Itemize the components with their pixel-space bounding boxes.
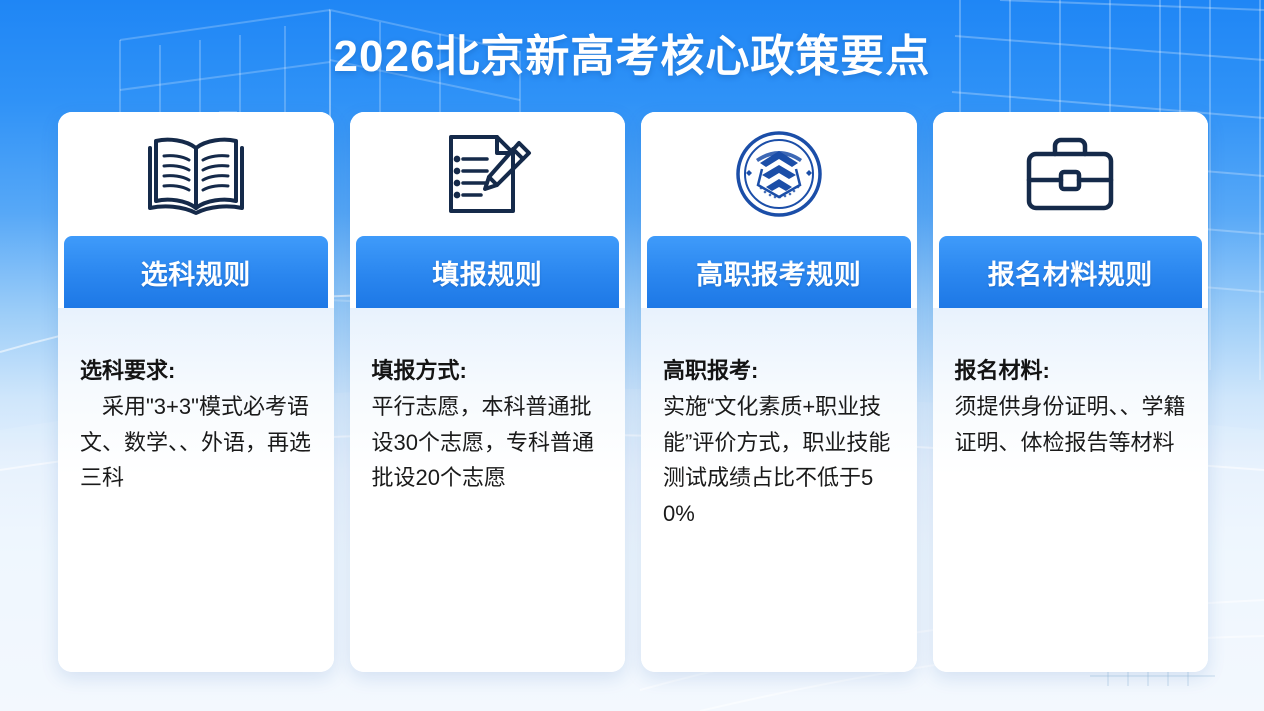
card-title-band: 填报规则 <box>356 236 620 308</box>
policy-card-row: 选科规则 选科要求: 采用"3+3"模式必考语文、数学、、外语，再选三科 <box>58 112 1208 672</box>
card-body: 填报方式: 平行志愿，本科普通批设30个志愿，专科普通批设20个志愿 <box>350 308 626 672</box>
briefcase-icon <box>933 112 1209 236</box>
card-text: 须提供身份证明、、学籍证明、体检报告等材料 <box>955 389 1187 460</box>
open-book-icon <box>58 112 334 236</box>
card-title-label: 填报规则 <box>432 253 542 292</box>
card-title-band: 报名材料规则 <box>939 236 1203 308</box>
card-title-label: 高职报考规则 <box>696 253 861 292</box>
card-body: 高职报考: 实施“文化素质+职业技能”评价方式，职业技能测试成绩占比不低于50% <box>641 308 917 672</box>
card-title-label: 选科规则 <box>141 253 251 292</box>
card-title-band: 高职报考规则 <box>647 236 911 308</box>
document-pencil-icon <box>350 112 626 236</box>
policy-card[interactable]: 选科规则 选科要求: 采用"3+3"模式必考语文、数学、、外语，再选三科 <box>58 112 334 672</box>
policy-card[interactable]: 高职报考规则 高职报考: 实施“文化素质+职业技能”评价方式，职业技能测试成绩占… <box>641 112 917 672</box>
card-text: 采用"3+3"模式必考语文、数学、、外语，再选三科 <box>80 389 312 496</box>
card-heading: 填报方式: <box>372 354 604 387</box>
card-body: 选科要求: 采用"3+3"模式必考语文、数学、、外语，再选三科 <box>58 308 334 672</box>
card-text: 平行志愿，本科普通批设30个志愿，专科普通批设20个志愿 <box>372 389 604 496</box>
card-heading: 报名材料: <box>955 354 1187 387</box>
card-heading: 选科要求: <box>80 354 312 387</box>
policy-card[interactable]: 填报规则 填报方式: 平行志愿，本科普通批设30个志愿，专科普通批设20个志愿 <box>350 112 626 672</box>
card-title-band: 选科规则 <box>64 236 328 308</box>
card-heading: 高职报考: <box>663 354 895 387</box>
page-title: 2026北京新高考核心政策要点 <box>0 20 1264 84</box>
seal-emblem-icon <box>641 112 917 236</box>
card-body: 报名材料: 须提供身份证明、、学籍证明、体检报告等材料 <box>933 308 1209 672</box>
policy-card[interactable]: 报名材料规则 报名材料: 须提供身份证明、、学籍证明、体检报告等材料 <box>933 112 1209 672</box>
slide-canvas: 2026北京新高考核心政策要点 <box>0 0 1264 711</box>
card-text: 实施“文化素质+职业技能”评价方式，职业技能测试成绩占比不低于50% <box>663 389 895 532</box>
card-title-label: 报名材料规则 <box>988 253 1153 292</box>
